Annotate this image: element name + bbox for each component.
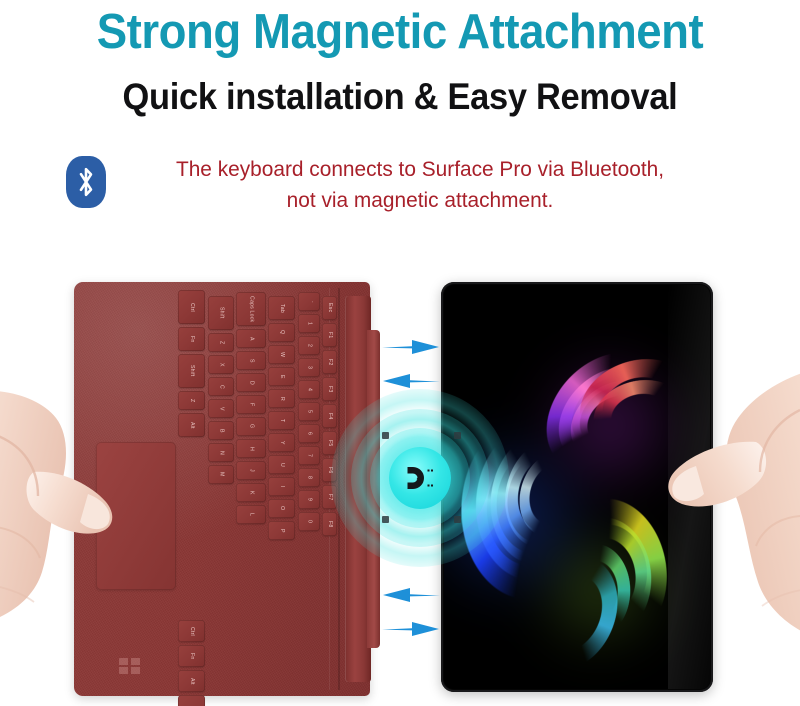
keyboard-key: Fn: [178, 327, 205, 351]
key-column: `1234567890: [298, 292, 320, 531]
keyboard-key: Caps Lock: [236, 292, 266, 326]
keyboard-key: J: [236, 461, 266, 480]
keyboard-key: X: [208, 355, 234, 374]
keyboard-key: Alt: [178, 670, 205, 692]
magnet-icon: [389, 447, 451, 509]
keyboard-key: K: [236, 483, 266, 502]
attach-arrow-right-bottom: [382, 620, 440, 638]
keyboard-key: F1: [322, 323, 337, 347]
left-hand: [0, 376, 128, 636]
keyboard-key: F2: [322, 350, 337, 374]
keyboard-key: A: [236, 329, 266, 348]
key-column-modifiers: CtrlFnAltEnterBackspace: [178, 620, 205, 706]
keyboard-key: W: [268, 345, 295, 364]
keyboard-key: F: [236, 395, 266, 414]
keyboard-key: C: [208, 377, 234, 396]
bluetooth-icon: [66, 156, 106, 208]
keyboard-key: E: [268, 367, 295, 386]
keyboard-key: H: [236, 439, 266, 458]
windows-logo-icon: [119, 658, 141, 674]
bluetooth-note: The keyboard connects to Surface Pro via…: [0, 152, 800, 230]
promo-banner: Strong Magnetic Attachment Quick install…: [0, 0, 800, 706]
keyboard-key: 6: [298, 424, 320, 443]
keyboard-key: Z: [208, 333, 234, 352]
keyboard-key: 8: [298, 468, 320, 487]
detach-arrow-left-bottom: [382, 586, 440, 604]
keyboard-key: 7: [298, 446, 320, 465]
key-column: Caps LockASDFGHJKL: [236, 292, 266, 524]
keyboard-keys: CtrlFnShiftZAltShiftZXCVBNMCaps LockASDF…: [178, 290, 338, 688]
keyboard-key: O: [268, 499, 295, 518]
magnet-contact-dot: [382, 516, 389, 523]
keyboard-key: Y: [268, 433, 295, 452]
keyboard-key: 0: [298, 512, 320, 531]
page-title: Strong Magnetic Attachment: [28, 4, 772, 60]
attach-arrow-right-top: [382, 338, 440, 356]
keyboard-key: Esc: [322, 296, 337, 320]
keyboard-key: 2: [298, 336, 320, 355]
magnet-contact-dot: [454, 516, 461, 523]
keyboard-key: S: [236, 351, 266, 370]
keyboard-key: V: [208, 399, 234, 418]
keyboard-key: 3: [298, 358, 320, 377]
keyboard-key: Alt: [178, 413, 205, 437]
magnet-contact-dot: [382, 432, 389, 439]
keyboard-key: N: [208, 443, 234, 462]
keyboard-key: B: [208, 421, 234, 440]
keyboard-key: Shift: [208, 296, 234, 330]
keyboard-key: Ctrl: [178, 290, 205, 324]
keyboard-key: T: [268, 411, 295, 430]
note-line-2: not via magnetic attachment.: [127, 185, 713, 216]
keyboard-key: L: [236, 505, 266, 524]
magnet-contact-dot: [454, 432, 461, 439]
product-photo: CtrlFnShiftZAltShiftZXCVBNMCaps LockASDF…: [0, 246, 800, 706]
keyboard-key: I: [268, 477, 295, 496]
right-hand: [660, 356, 800, 656]
keyboard-key: P: [268, 521, 295, 540]
keyboard-key: Ctrl: [178, 620, 205, 642]
bluetooth-note-text: The keyboard connects to Surface Pro via…: [127, 154, 713, 216]
keyboard-key: Tab: [268, 296, 295, 320]
keyboard-key: 4: [298, 380, 320, 399]
keyboard-key: U: [268, 455, 295, 474]
page-subtitle: Quick installation & Easy Removal: [28, 74, 772, 120]
key-column: CtrlFnShiftZAlt: [178, 290, 205, 437]
keyboard-key: Z: [178, 391, 205, 410]
keyboard-key: Fn: [178, 645, 205, 667]
key-column: ShiftZXCVBNM: [208, 296, 234, 484]
keyboard-key: 5: [298, 402, 320, 421]
keyboard-key: Q: [268, 323, 295, 342]
key-column: TabQWERTYUIOP: [268, 296, 295, 540]
keyboard-key: `: [298, 292, 320, 311]
keyboard-key: Shift: [178, 354, 205, 388]
keyboard-key: 1: [298, 314, 320, 333]
keyboard-key: 9: [298, 490, 320, 509]
keyboard-key: G: [236, 417, 266, 436]
note-line-1: The keyboard connects to Surface Pro via…: [176, 157, 664, 181]
keyboard-key: D: [236, 373, 266, 392]
keyboard-key: [178, 695, 205, 706]
keyboard-key: R: [268, 389, 295, 408]
keyboard-key: M: [208, 465, 234, 484]
magnet-indicator: [330, 388, 510, 568]
